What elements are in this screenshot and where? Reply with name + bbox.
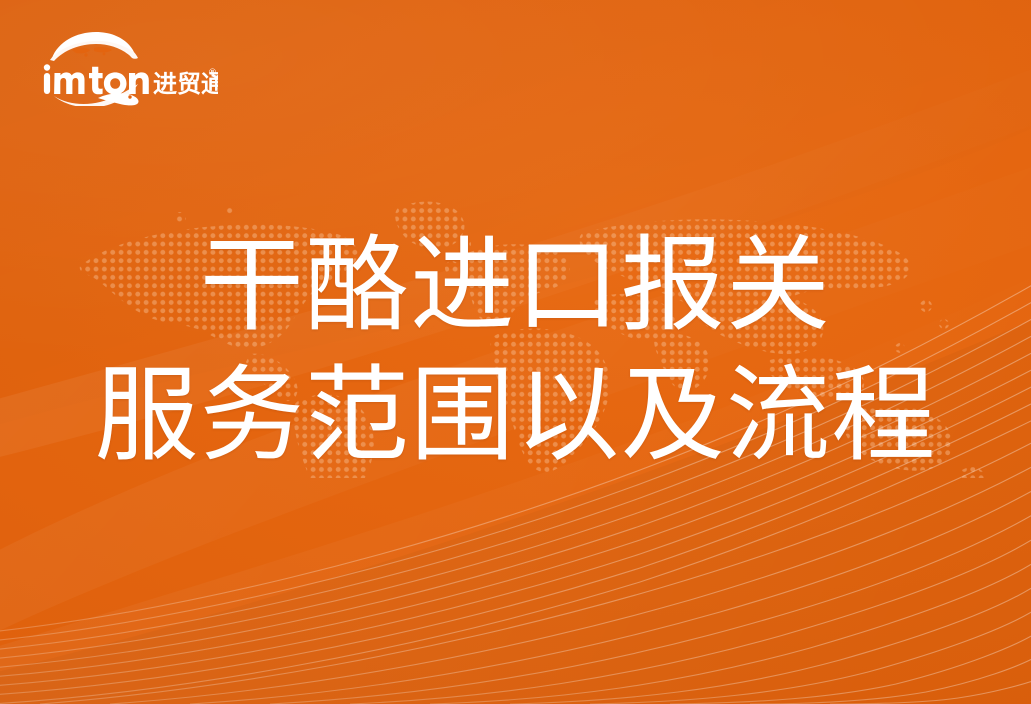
title-line-2: 服务范围以及流程: [0, 358, 1031, 476]
globe-icon: [50, 32, 138, 61]
poster-title: 干酪进口报关 服务范围以及流程: [0, 228, 1031, 476]
poster-banner: 进贸通 ® 干酪进口报关 服务范围以及流程: [0, 0, 1031, 704]
title-line-1: 干酪进口报关: [0, 228, 1031, 346]
trademark-symbol: ®: [208, 68, 217, 78]
brand-logo[interactable]: 进贸通 ®: [38, 26, 218, 106]
